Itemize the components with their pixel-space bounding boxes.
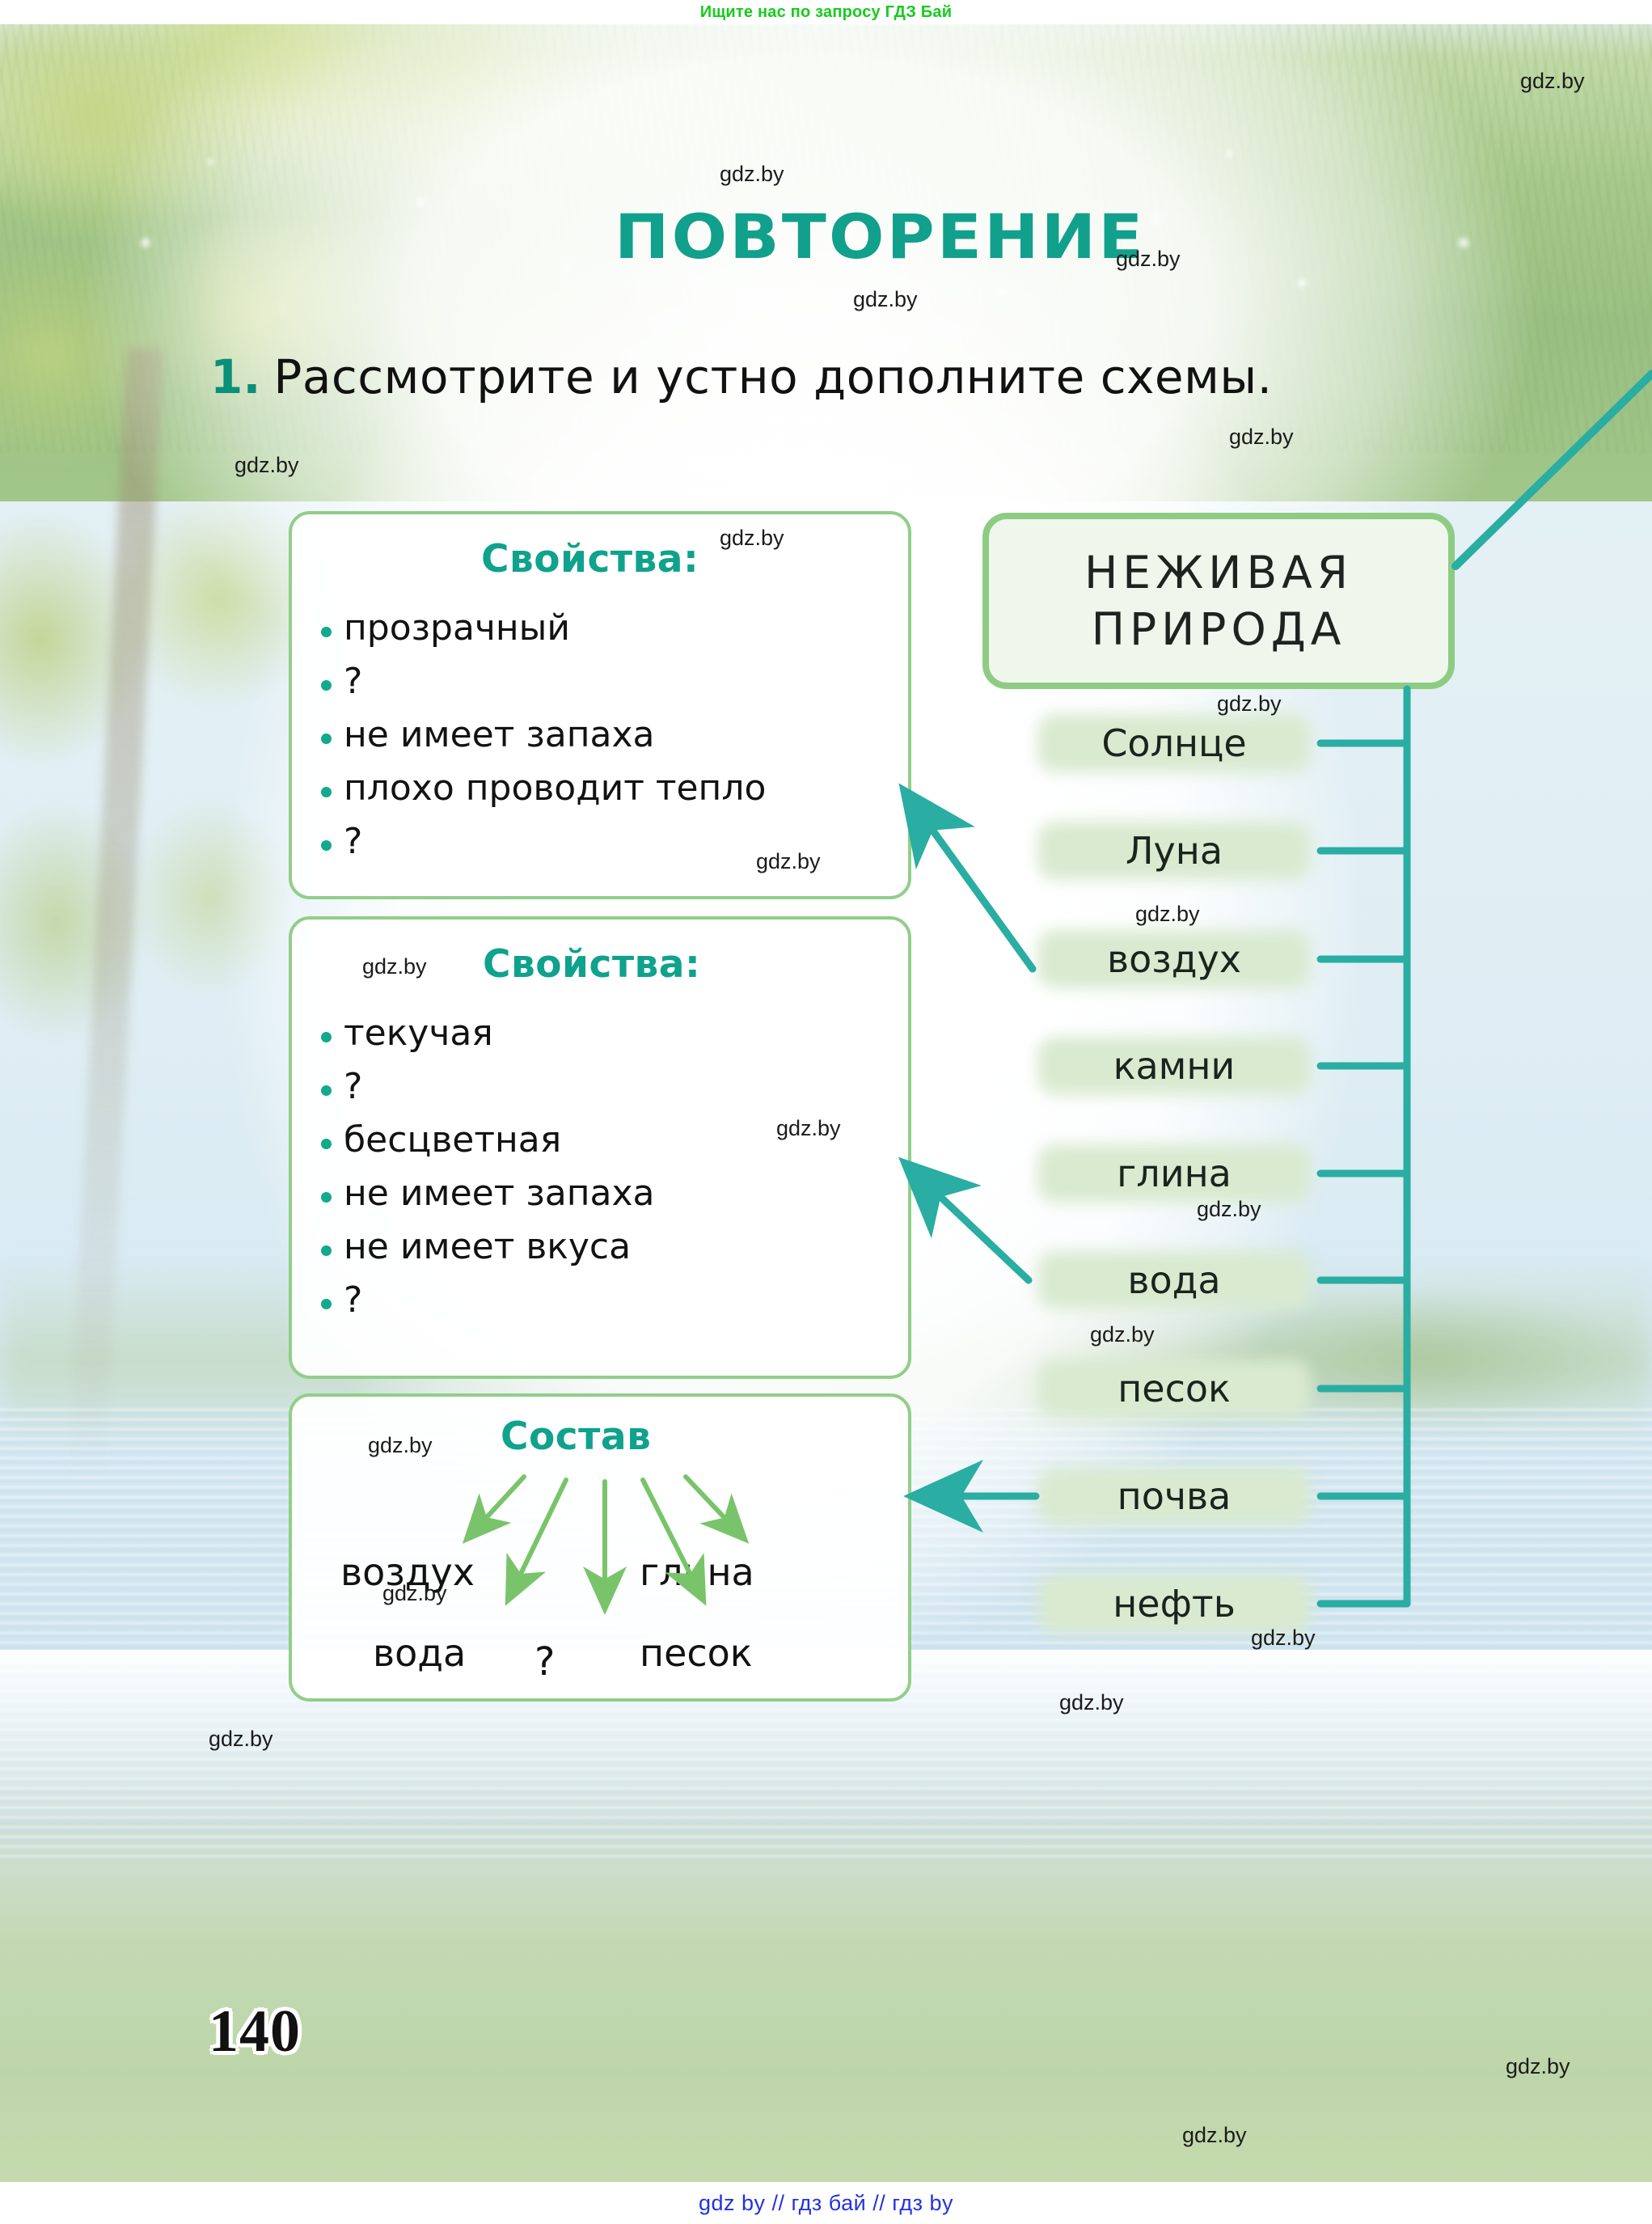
air-properties-list: прозрачный ? не имеет запаха плохо прово…	[319, 602, 766, 869]
watermark-gdz: gdz.by	[1251, 1626, 1316, 1651]
nature-item-sun: Солнце	[1037, 714, 1311, 772]
nature-item-moon: Луна	[1037, 822, 1311, 880]
list-item: прозрачный	[319, 602, 766, 655]
watermark-gdz: gdz.by	[368, 1433, 433, 1458]
task-number: 1.	[210, 349, 260, 404]
composition-item-water: вода	[373, 1631, 466, 1675]
chip-label: вода	[1127, 1258, 1220, 1302]
watermark-gdz: gdz.by	[1506, 2054, 1570, 2079]
water-properties-heading: Свойства:	[483, 942, 700, 987]
nonliving-nature-line2: ПРИРОДА	[1092, 601, 1346, 657]
chip-label: песок	[1118, 1367, 1231, 1410]
air-properties-heading: Свойства:	[481, 537, 699, 581]
air-properties-box: Свойства: прозрачный ? не имеет запаха п…	[289, 511, 911, 899]
composition-item-sand: песок	[640, 1631, 753, 1675]
list-item: ?	[319, 1060, 654, 1114]
page-number: 140	[209, 1998, 301, 2066]
chip-label: почва	[1118, 1474, 1232, 1518]
promo-bottom-banner: gdz by // гдз бай // гдз by	[0, 2182, 1652, 2224]
nature-item-oil: нефть	[1037, 1575, 1311, 1633]
watermark-gdz: gdz.by	[362, 954, 427, 979]
task-text: Рассмотрите и устно дополните схемы.	[273, 349, 1272, 404]
watermark-gdz: gdz.by	[1090, 1322, 1155, 1347]
composition-item-clay: глина	[640, 1550, 754, 1594]
promo-top-banner: Ищите нас по запросу ГДЗ Бай	[0, 0, 1652, 24]
water-properties-list: текучая ? бесцветная не имеет запаха не …	[319, 1007, 654, 1327]
nature-item-sand: песок	[1037, 1359, 1311, 1418]
watermark-gdz: gdz.by	[234, 453, 299, 478]
list-item: не имеет запаха	[319, 1167, 654, 1220]
nonliving-nature-node: НЕЖИВАЯ ПРИРОДА	[982, 513, 1455, 689]
list-item: текучая	[319, 1007, 654, 1060]
watermark-gdz: gdz.by	[720, 526, 784, 551]
list-item: ?	[319, 1274, 654, 1327]
watermark-gdz: gdz.by	[382, 1581, 447, 1606]
task-1-line: 1.Рассмотрите и устно дополните схемы.	[210, 349, 1273, 404]
soil-composition-heading: Состав	[501, 1414, 651, 1459]
promo-top-text: Ищите нас по запросу ГДЗ Бай	[700, 3, 952, 22]
list-item: плохо проводит тепло	[319, 762, 766, 815]
watermark-gdz: gdz.by	[756, 849, 821, 874]
nature-item-stones: камни	[1037, 1037, 1311, 1095]
chip-label: камни	[1113, 1044, 1236, 1088]
list-item: бесцветная	[319, 1114, 654, 1167]
water-properties-box: Свойства: текучая ? бесцветная не имеет …	[289, 916, 911, 1379]
watermark-gdz: gdz.by	[720, 162, 784, 187]
watermark-gdz: gdz.by	[1135, 902, 1200, 927]
chip-label: Луна	[1126, 829, 1223, 873]
chip-label: нефть	[1113, 1582, 1236, 1626]
watermark-gdz: gdz.by	[776, 1116, 841, 1141]
nature-item-water: вода	[1037, 1251, 1311, 1309]
nature-item-soil: почва	[1037, 1467, 1311, 1525]
watermark-gdz: gdz.by	[853, 287, 918, 312]
watermark-gdz: gdz.by	[1217, 691, 1282, 717]
nonliving-nature-line1: НЕЖИВАЯ	[1084, 544, 1353, 601]
watermark-gdz: gdz.by	[1059, 1690, 1124, 1715]
nature-item-air: воздух	[1037, 930, 1311, 988]
watermark-gdz: gdz.by	[1229, 425, 1294, 450]
composition-item-unknown: ?	[534, 1639, 555, 1685]
list-item: не имеет запаха	[319, 708, 766, 762]
watermark-gdz: gdz.by	[1182, 2123, 1247, 2148]
page-title: ПОВТОРЕНИЕ	[615, 201, 1146, 273]
nature-item-clay: глина	[1037, 1144, 1311, 1203]
list-item: не имеет вкуса	[319, 1220, 654, 1274]
list-item: ?	[319, 815, 766, 869]
watermark-gdz: gdz.by	[1197, 1197, 1261, 1222]
chip-label: воздух	[1107, 937, 1241, 981]
list-item: ?	[319, 655, 766, 708]
chip-label: глина	[1117, 1152, 1232, 1195]
promo-bottom-text: gdz by // гдз бай // гдз by	[699, 2191, 953, 2216]
watermark-gdz: gdz.by	[1116, 247, 1181, 272]
watermark-gdz: gdz.by	[1520, 69, 1585, 94]
chip-label: Солнце	[1101, 721, 1246, 765]
watermark-gdz: gdz.by	[209, 1727, 273, 1752]
